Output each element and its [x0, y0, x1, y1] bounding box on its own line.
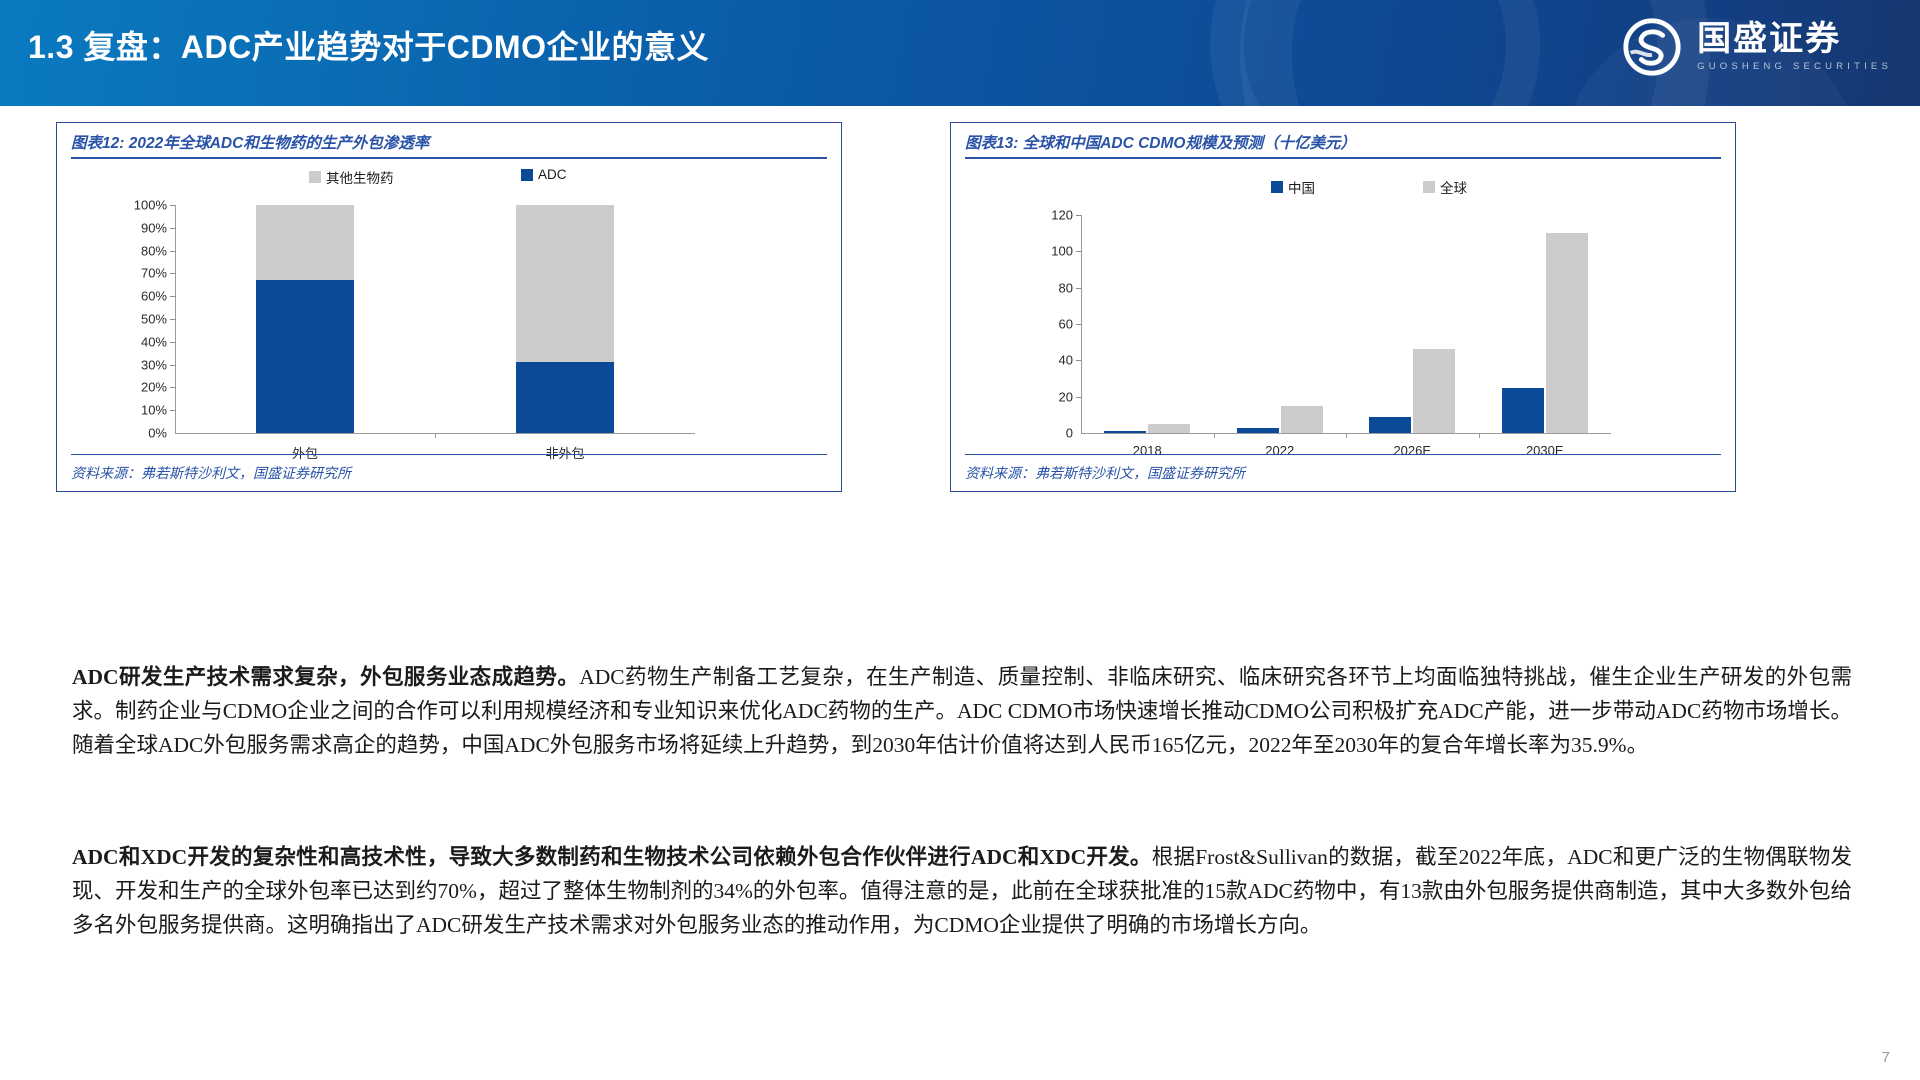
paragraph-1: ADC研发生产技术需求复杂，外包服务业态成趋势。ADC药物生产制备工艺复杂，在生… [72, 660, 1852, 762]
y-tick-mark [170, 205, 175, 206]
y-axis-tick-label: 50% [117, 312, 167, 327]
logo-name-en: GUOSHENG SECURITIES [1697, 61, 1892, 72]
exhibit-13-footer-rule [965, 454, 1721, 456]
bar [1546, 233, 1588, 433]
x-tick-separator [1346, 433, 1347, 438]
exhibit-13-title: 图表13: 全球和中国ADC CDMO规模及预测（十亿美元） [965, 131, 1356, 153]
chart-12-plot: 0%10%20%30%40%50%60%70%80%90%100%外包非外包 [57, 163, 841, 443]
x-tick-separator [435, 433, 436, 438]
y-tick-mark [170, 319, 175, 320]
x-axis-tick-label: 非外包 [545, 443, 584, 462]
chart-13-plot: 020406080100120201820222026E2030E [951, 163, 1735, 443]
page-title: 1.3 复盘：ADC产业趋势对于CDMO企业的意义 [28, 22, 709, 68]
y-axis-tick-label: 20 [1023, 389, 1073, 404]
y-axis-tick-label: 0 [1023, 426, 1073, 441]
bar [1281, 406, 1323, 433]
y-tick-mark [170, 365, 175, 366]
page-number: 7 [1882, 1049, 1890, 1066]
y-axis-tick-label: 60% [117, 289, 167, 304]
x-axis-tick-label: 2030E [1526, 443, 1564, 458]
y-axis-tick-label: 100% [117, 198, 167, 213]
exhibit-12-source: 资料来源：弗若斯特沙利文，国盛证券研究所 [71, 463, 351, 483]
y-tick-mark [170, 228, 175, 229]
y-tick-mark [1076, 360, 1081, 361]
x-tick-separator [1214, 433, 1215, 438]
x-axis-tick-label: 2022 [1265, 443, 1294, 458]
y-axis-tick-label: 80% [117, 243, 167, 258]
y-axis-tick-label: 20% [117, 380, 167, 395]
y-axis-tick-label: 40% [117, 334, 167, 349]
y-axis-tick-label: 0% [117, 426, 167, 441]
y-axis-tick-label: 120 [1023, 208, 1073, 223]
chart-12-canvas: 其他生物药 ADC 0%10%20%30%40%50%60%70%80%90%1… [57, 163, 841, 443]
exhibit-13-source: 资料来源：弗若斯特沙利文，国盛证券研究所 [965, 463, 1245, 483]
chart-13-canvas: 中国 全球 020406080100120201820222026E2030E [951, 163, 1735, 443]
y-axis-tick-label: 80 [1023, 280, 1073, 295]
y-axis-tick-label: 40 [1023, 353, 1073, 368]
bar-segment [256, 205, 354, 280]
bar-segment [516, 205, 614, 362]
y-tick-mark [170, 342, 175, 343]
company-logo: 国盛证券 GUOSHENG SECURITIES [1621, 16, 1892, 78]
y-tick-mark [1076, 324, 1081, 325]
y-axis-tick-label: 90% [117, 220, 167, 235]
bar [1237, 428, 1279, 433]
exhibit-12-footer-rule [71, 454, 827, 456]
bar [1148, 424, 1190, 433]
y-axis-tick-label: 10% [117, 403, 167, 418]
y-tick-mark [170, 273, 175, 274]
x-axis-tick-label: 2026E [1393, 443, 1431, 458]
exhibit-12-panel: 图表12: 2022年全球ADC和生物药的生产外包渗透率 其他生物药 ADC 0… [56, 122, 842, 492]
paragraph-2: ADC和XDC开发的复杂性和高技术性，导致大多数制药和生物技术公司依赖外包合作伙… [72, 840, 1852, 942]
exhibit-12-title-rule [71, 157, 827, 159]
exhibit-13-panel: 图表13: 全球和中国ADC CDMO规模及预测（十亿美元） 中国 全球 020… [950, 122, 1736, 492]
bar [1502, 388, 1544, 433]
bar [1369, 417, 1411, 433]
slide-page: 1.3 复盘：ADC产业趋势对于CDMO企业的意义 国盛证券 GUOSHENG … [0, 0, 1920, 1080]
y-tick-mark [1076, 251, 1081, 252]
x-tick-separator [1479, 433, 1480, 438]
y-tick-mark [170, 296, 175, 297]
guosheng-s-mark-icon [1621, 16, 1683, 78]
slide-header: 1.3 复盘：ADC产业趋势对于CDMO企业的意义 国盛证券 GUOSHENG … [0, 0, 1920, 106]
y-tick-mark [170, 251, 175, 252]
y-tick-mark [170, 410, 175, 411]
header-decor-circle-inner [1210, 0, 1540, 106]
x-axis-tick-label: 外包 [292, 443, 318, 462]
y-tick-mark [1076, 215, 1081, 216]
y-axis-tick-label: 70% [117, 266, 167, 281]
x-axis-tick-label: 2018 [1133, 443, 1162, 458]
logo-text: 国盛证券 GUOSHENG SECURITIES [1697, 22, 1892, 72]
y-tick-mark [1076, 288, 1081, 289]
y-axis-tick-label: 100 [1023, 244, 1073, 259]
y-tick-mark [1076, 397, 1081, 398]
y-axis-tick-label: 60 [1023, 317, 1073, 332]
exhibit-13-title-rule [965, 157, 1721, 159]
bar [1104, 431, 1146, 433]
paragraph-2-lead: ADC和XDC开发的复杂性和高技术性，导致大多数制药和生物技术公司依赖外包合作伙… [72, 845, 1152, 869]
bar [1413, 349, 1455, 433]
y-axis-line [175, 205, 176, 433]
logo-name-cn: 国盛证券 [1697, 22, 1841, 58]
y-axis-tick-label: 30% [117, 357, 167, 372]
y-axis-line [1081, 215, 1082, 433]
y-tick-mark [170, 387, 175, 388]
bar-segment [516, 362, 614, 433]
paragraph-1-lead: ADC研发生产技术需求复杂，外包服务业态成趋势。 [72, 665, 579, 689]
bar-segment [256, 280, 354, 433]
exhibit-12-title: 图表12: 2022年全球ADC和生物药的生产外包渗透率 [71, 131, 429, 153]
